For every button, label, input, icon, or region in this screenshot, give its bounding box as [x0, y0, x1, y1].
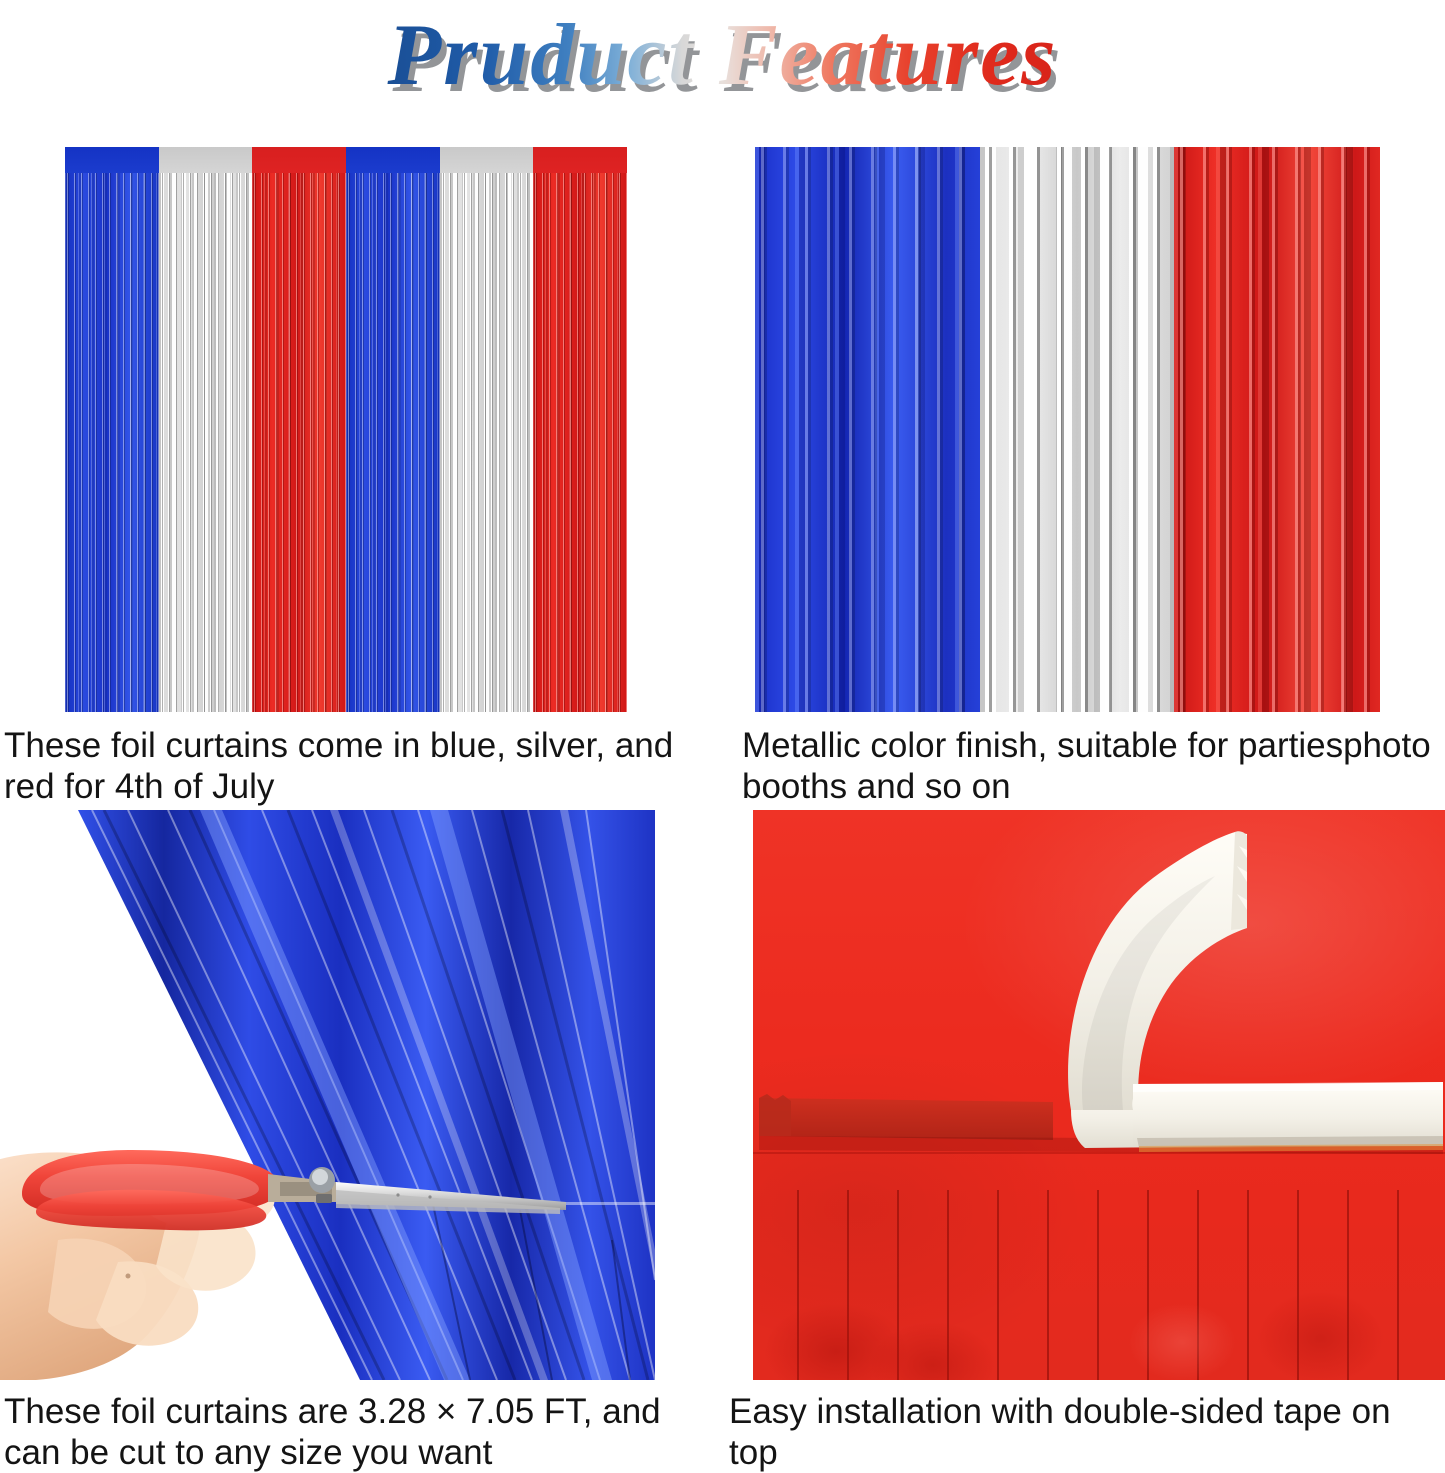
- curtain-stripe-blue-2: [346, 147, 440, 712]
- curtain-stripe-fringe: [346, 173, 440, 712]
- feature-caption-metallic-finish: Metallic color finish, suitable for part…: [742, 726, 1445, 807]
- feature-image-foil-curtain-six-panel: [65, 147, 627, 712]
- curtain-stripe-fringe: [533, 173, 627, 712]
- feature-caption-cuttable-size: These foil curtains are 3.28 × 7.05 FT, …: [4, 1392, 694, 1473]
- scissors-cutting-foil-illustration: [0, 810, 655, 1380]
- curtain-band-blue: [755, 147, 980, 712]
- curtain-stripe-fringe: [440, 173, 534, 712]
- feature-image-scissors-cutting-foil: [0, 810, 655, 1380]
- curtain-stripe-fringe: [252, 173, 346, 712]
- page-title-bar: Pruduct Features: [0, 0, 1445, 112]
- feature-caption-tape-install: Easy installation with double-sided tape…: [729, 1392, 1445, 1473]
- curtain-stripe-silver-1: [159, 147, 253, 712]
- curtain-band-silver: [980, 147, 1174, 712]
- feature-image-red-foil-tape: [753, 810, 1445, 1380]
- curtain-stripe-red-1: [252, 147, 346, 712]
- feature-image-foil-curtain-closeup: [755, 147, 1380, 712]
- curtain-stripe-fringe: [65, 173, 159, 712]
- tape-adhesive-strip: [759, 1098, 1053, 1140]
- page-title: Pruduct Features: [387, 12, 1057, 100]
- curtain-band-red: [1174, 147, 1380, 712]
- curtain-stripe-fringe: [159, 173, 253, 712]
- feature-caption-colors: These foil curtains come in blue, silver…: [4, 726, 694, 807]
- curtain-stripe-red-2: [533, 147, 627, 712]
- curtain-stripe-blue-1: [65, 147, 159, 712]
- double-sided-tape-illustration: [753, 810, 1445, 1380]
- curtain-stripe-silver-2: [440, 147, 534, 712]
